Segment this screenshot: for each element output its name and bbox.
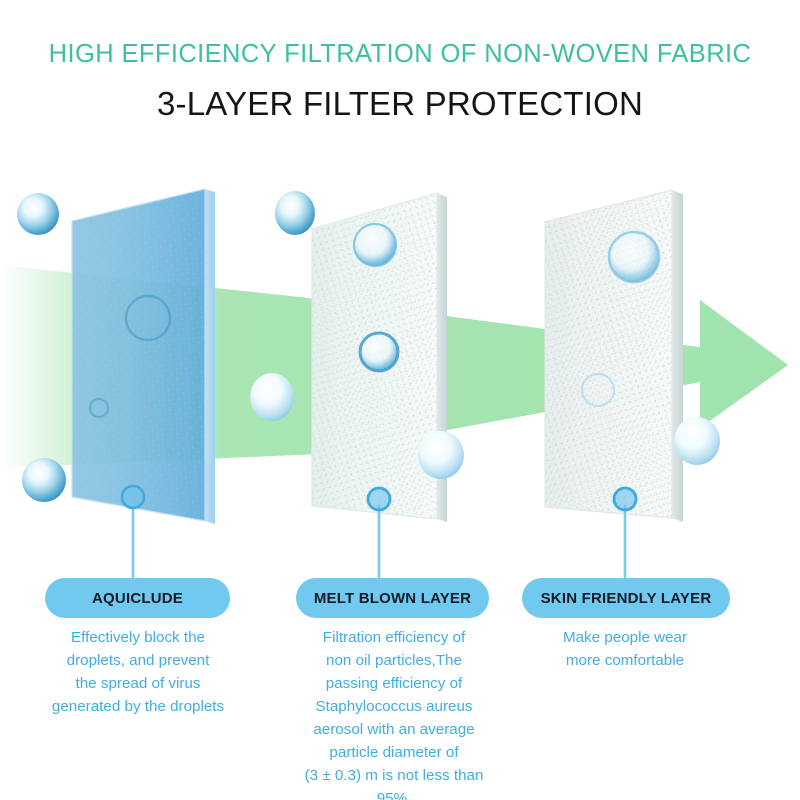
infographic-poster: HIGH EFFICIENCY FILTRATION OF NON-WOVEN … [0,0,800,800]
desc-line: Filtration efficiency of [286,626,502,649]
layer-label-text: SKIN FRIENDLY LAYER [541,590,712,607]
desc-line: Staphylococcus aureus [286,695,502,718]
callout-pin-3 [614,488,636,578]
desc-line: aerosol with an average [286,718,502,741]
page-title-secondary: 3-LAYER FILTER PROTECTION [0,85,800,123]
callout-pin-2 [368,488,390,578]
desc-line: the spread of virus [36,672,240,695]
desc-line: (3 ± 0.3) m is not less than 95%. [286,764,502,800]
layer-description-melt-blown: Filtration efficiency of non oil particl… [286,626,502,800]
page-title-primary: HIGH EFFICIENCY FILTRATION OF NON-WOVEN … [0,40,800,69]
layer-description-skin-friendly: Make people wear more comfortable [515,626,735,672]
layer-label-text: MELT BLOWN LAYER [314,590,471,607]
layer-label-aquiclude[interactable]: AQUICLUDE [45,578,230,618]
layer-label-skin-friendly[interactable]: SKIN FRIENDLY LAYER [522,578,730,618]
layer-label-text: AQUICLUDE [92,590,183,607]
callout-pin-1 [122,486,144,578]
filter-sheet-aquiclude [60,180,225,540]
filter-sheet-melt-blown [300,185,450,530]
desc-line: more comfortable [515,649,735,672]
desc-line: non oil particles,The [286,649,502,672]
desc-line: passing efficiency of [286,672,502,695]
desc-line: Effectively block the [36,626,240,649]
layer-description-aquiclude: Effectively block the droplets, and prev… [36,626,240,718]
desc-line: particle diameter of [286,741,502,764]
filter-sheet-skin-friendly [535,180,685,530]
desc-line: droplets, and prevent [36,649,240,672]
desc-line: generated by the droplets [36,695,240,718]
desc-line: Make people wear [515,626,735,649]
layer-label-melt-blown[interactable]: MELT BLOWN LAYER [296,578,489,618]
